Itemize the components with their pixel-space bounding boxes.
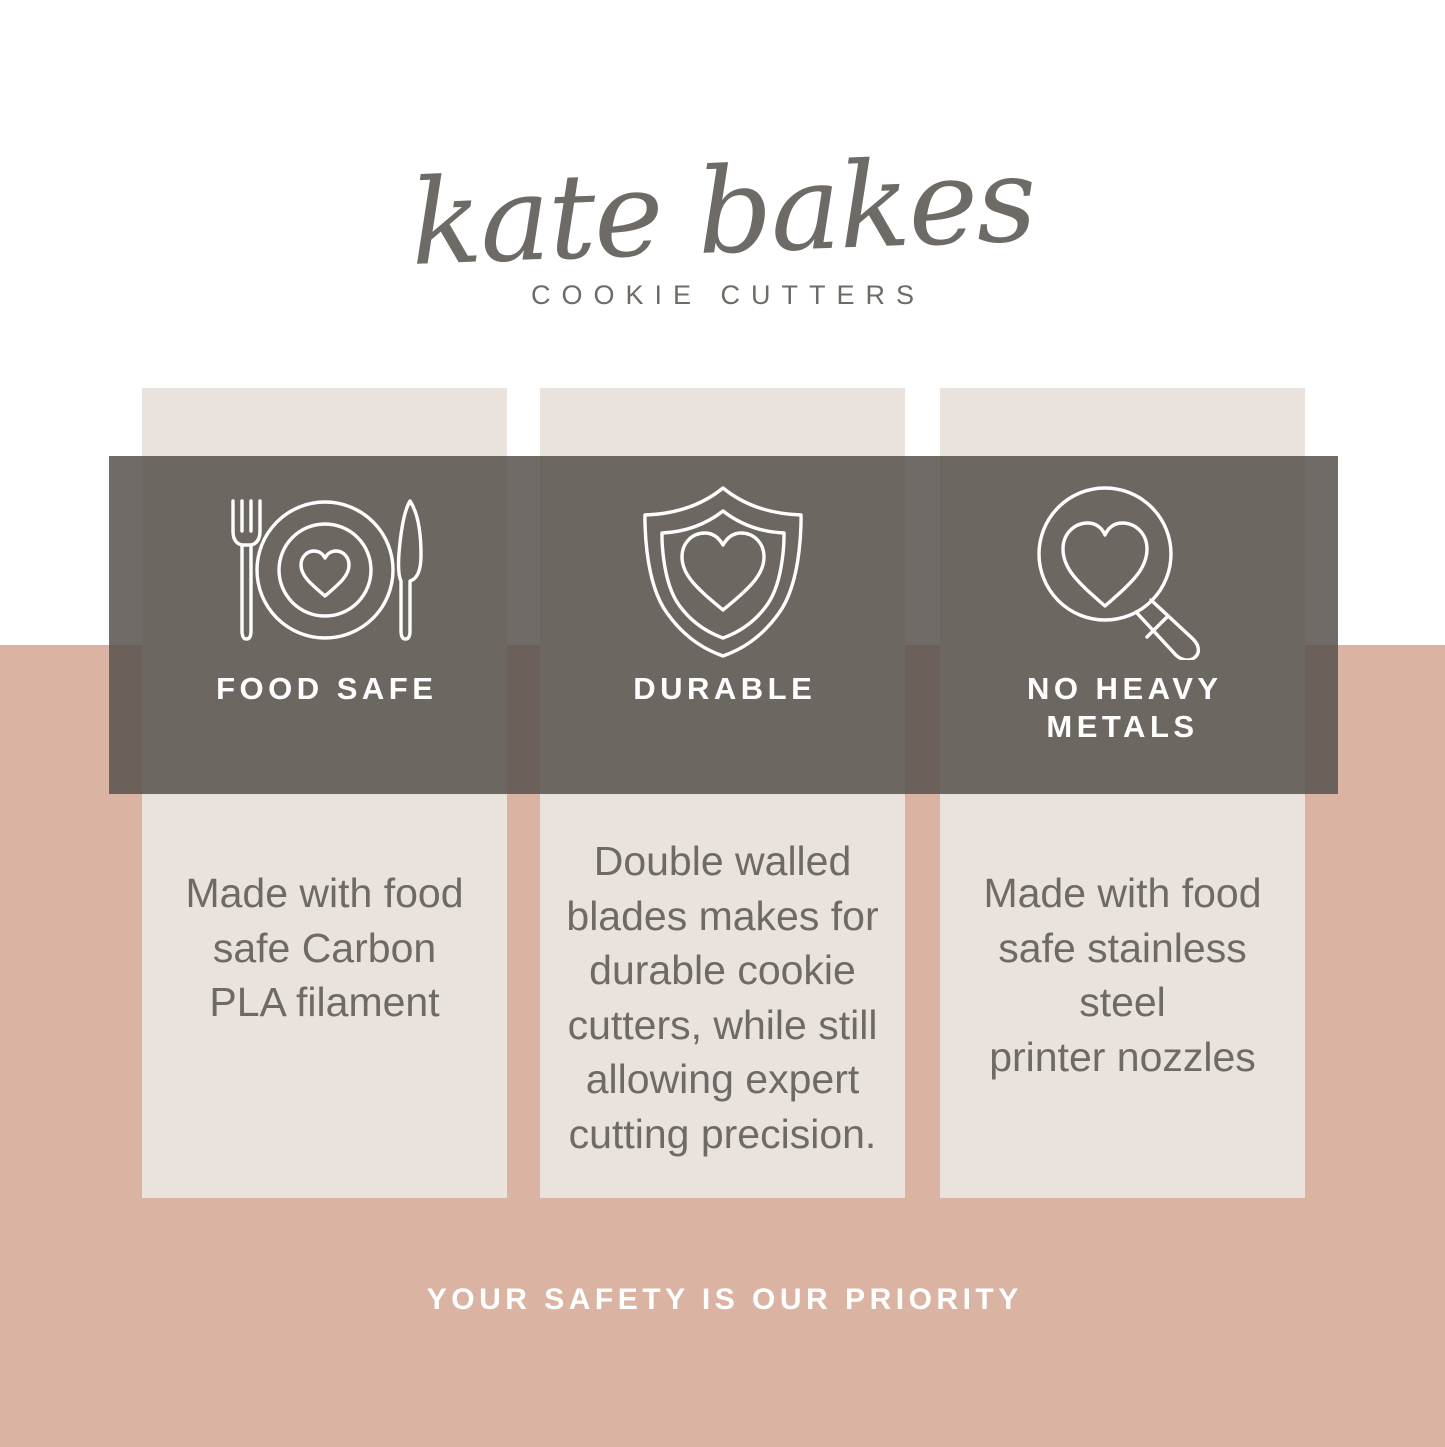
- feature-label-3: NO HEAVY METALS: [1022, 670, 1222, 746]
- feature-body-1: Made with food safe Carbon PLA filament: [152, 866, 497, 1030]
- plate-fork-knife-heart-icon: [219, 484, 431, 660]
- infographic-canvas: kate bakes COOKIE CUTTERS: [0, 0, 1445, 1447]
- feature-body-3: Made with food safe stainless steel prin…: [950, 866, 1295, 1084]
- footer-tagline: YOUR SAFETY IS OUR PRIORITY: [0, 1283, 1445, 1317]
- brand-lockup: kate bakes COOKIE CUTTERS: [0, 150, 1445, 311]
- magnifier-heart-icon: [1033, 484, 1213, 660]
- feature-label-1: FOOD SAFE: [212, 670, 438, 708]
- feature-label-2: DURABLE: [629, 670, 817, 708]
- feature-block-food-safe: FOOD SAFE: [142, 456, 507, 794]
- feature-block-durable: DURABLE: [540, 456, 905, 794]
- brand-script-name: kate bakes: [0, 122, 1445, 301]
- shield-heart-icon: [637, 484, 809, 660]
- feature-block-no-heavy-metals: NO HEAVY METALS: [940, 456, 1305, 794]
- feature-body-2: Double walled blades makes for durable c…: [550, 834, 895, 1161]
